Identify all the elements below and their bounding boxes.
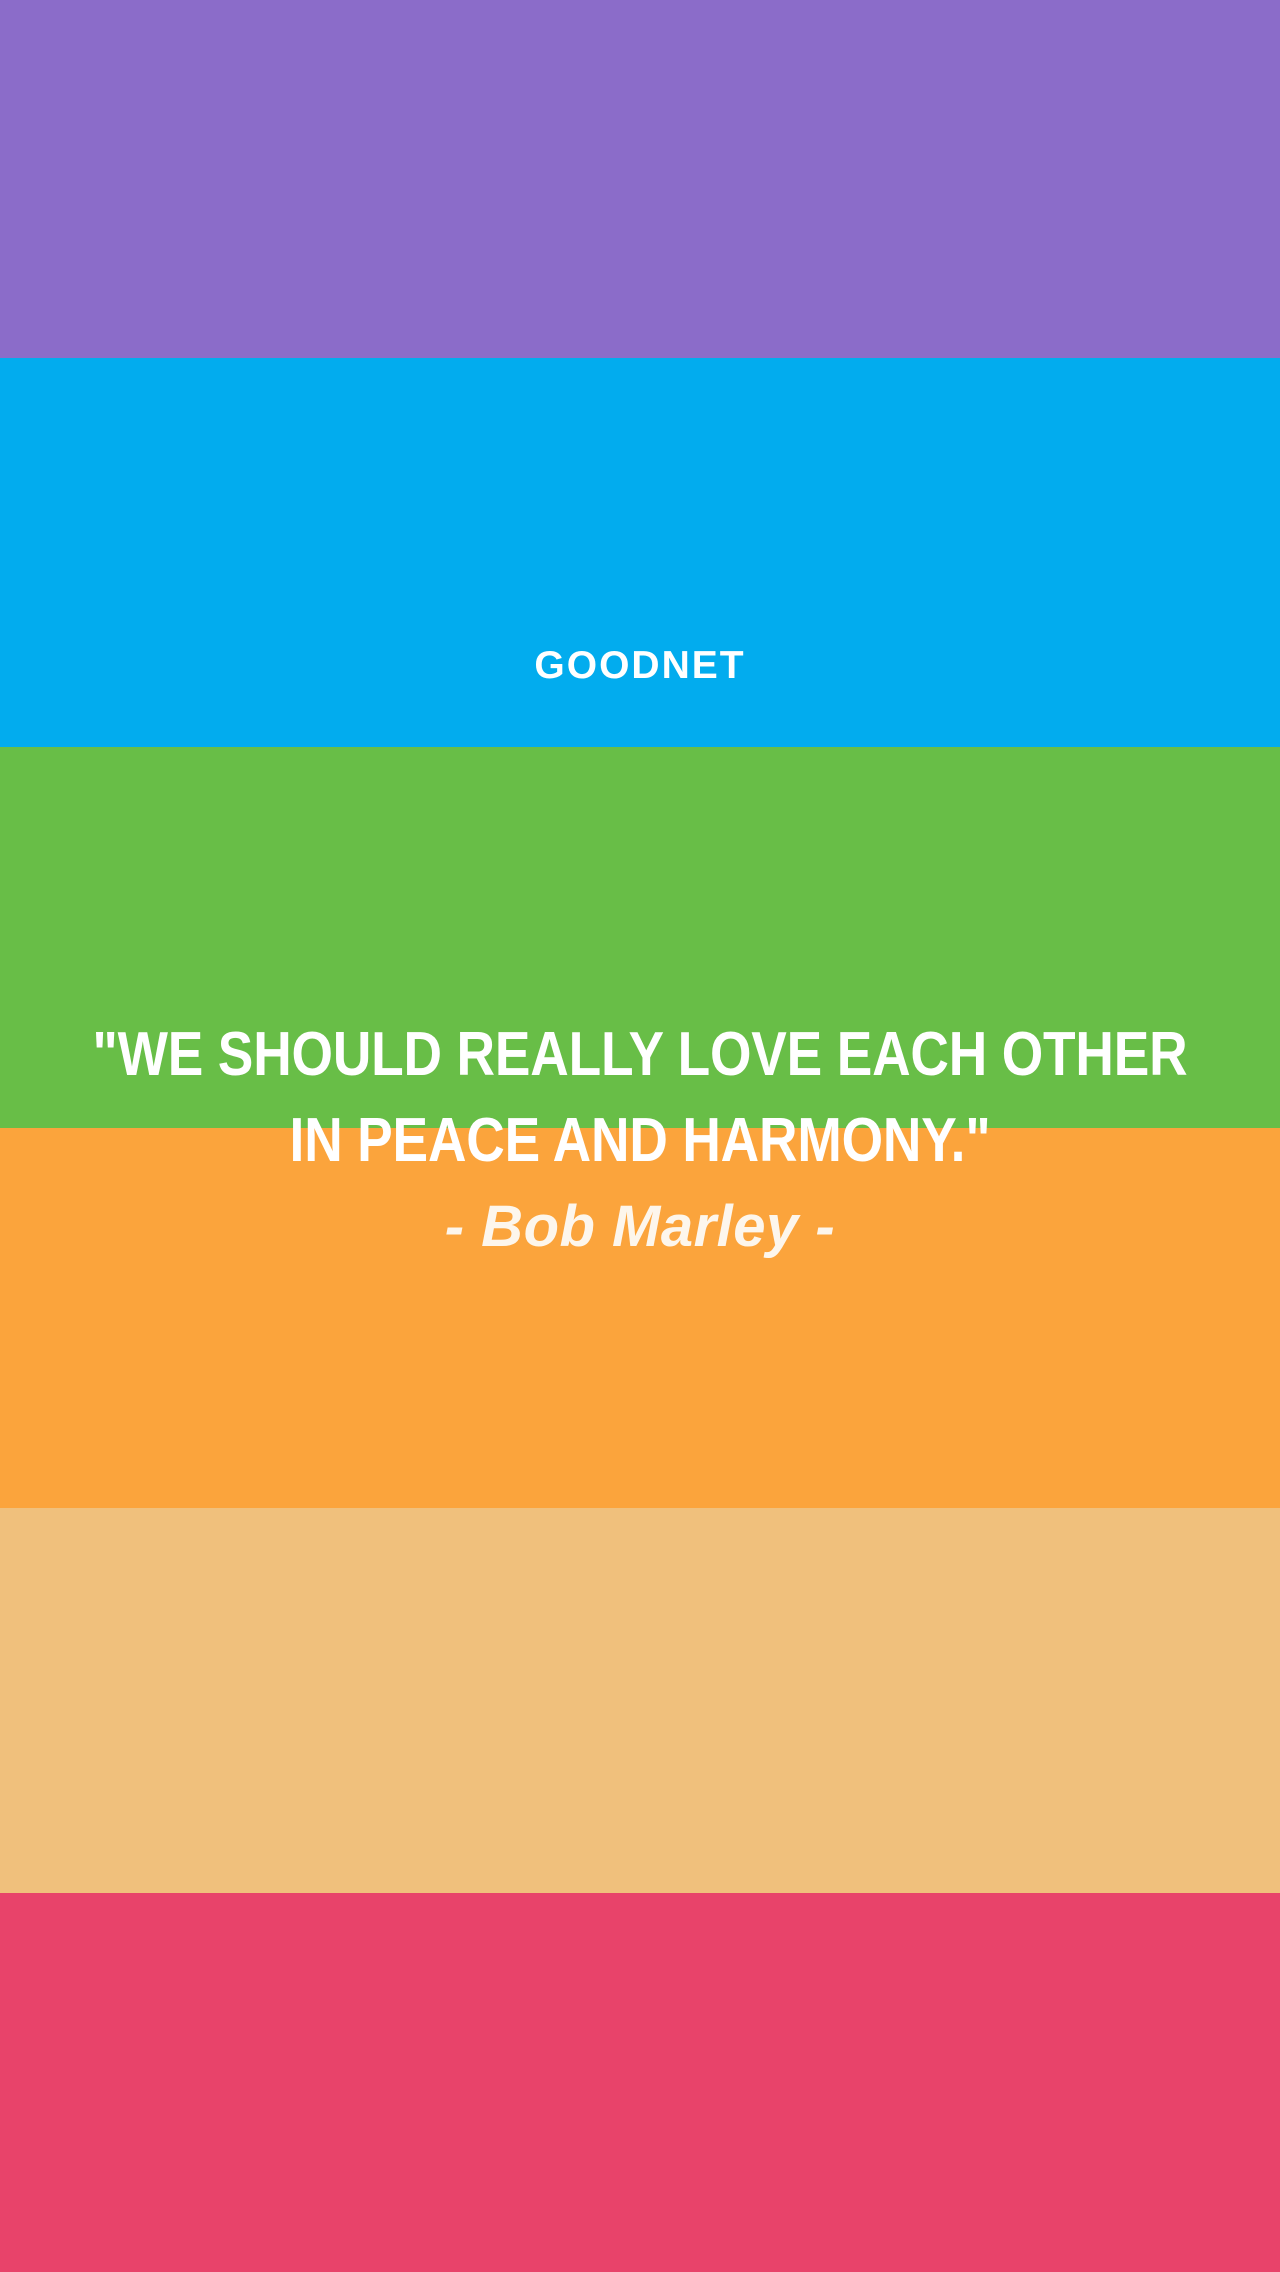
band-tan [0, 1508, 1280, 1893]
band-blue [0, 358, 1280, 747]
band-green [0, 747, 1280, 1128]
quote-card: GOODNET "WE SHOULD REALLY LOVE EACH OTHE… [0, 0, 1280, 2272]
band-red [0, 1893, 1280, 2272]
band-purple [0, 0, 1280, 358]
band-orange [0, 1128, 1280, 1508]
color-band-stack [0, 0, 1280, 2272]
